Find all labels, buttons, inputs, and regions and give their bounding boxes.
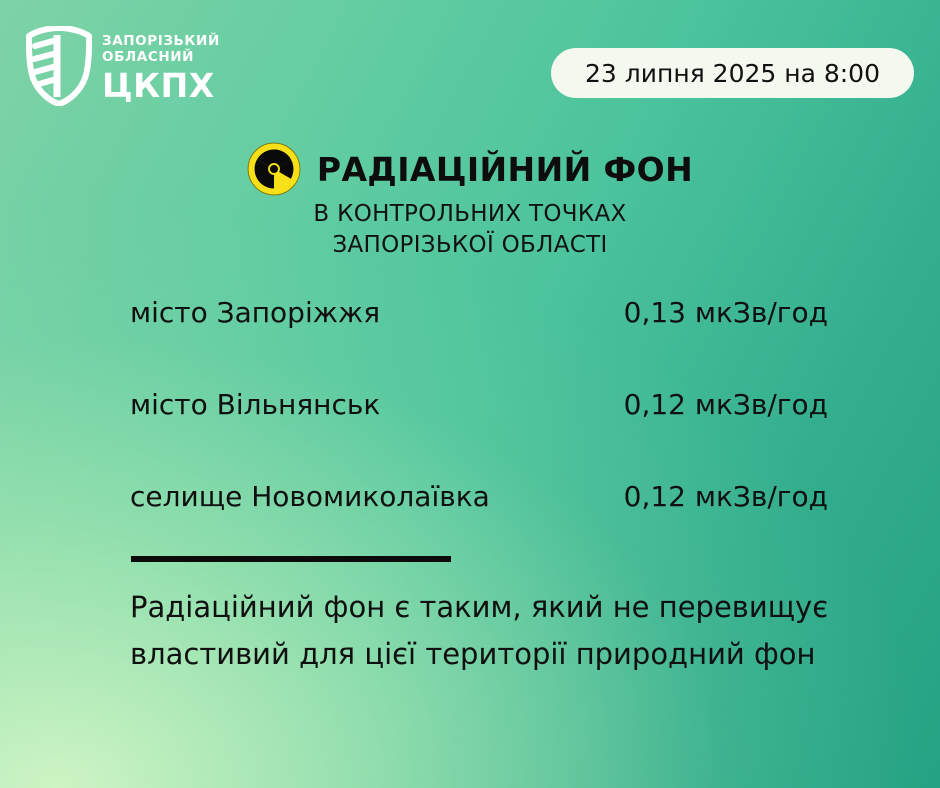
page-heading: РАДІАЦІЙНИЙ ФОН В КОНТРОЛЬНИХ ТОЧКАХ ЗАП…: [0, 142, 940, 260]
shield-logo-icon: [26, 26, 92, 106]
reading-row: місто Запоріжжя 0,13 мкЗв/год: [130, 296, 828, 388]
date-badge-label: 23 липня 2025 на 8:00: [585, 59, 880, 88]
brand-logo-text: ЗАПОРІЗЬКИЙ ОБЛАСНИЙ ЦКПХ: [102, 29, 220, 104]
footnote-line-1: Радіаційний фон є таким, який не перевищ…: [130, 584, 870, 631]
page-subtitle-line-2: ЗАПОРІЗЬКОЇ ОБЛАСТІ: [0, 231, 940, 260]
reading-location: селище Новомиколаївка: [130, 480, 490, 513]
footnote-line-2: властивий для цієї території природний ф…: [130, 631, 870, 678]
page-title: РАДІАЦІЙНИЙ ФОН: [317, 150, 693, 189]
section-divider: [131, 556, 451, 562]
brand-abbrev: ЦКПХ: [102, 69, 220, 103]
reading-location: місто Запоріжжя: [130, 296, 380, 329]
reading-value: 0,13 мкЗв/год: [624, 296, 828, 329]
reading-location: місто Вільнянськ: [130, 388, 380, 421]
radiation-background-poster: ЗАПОРІЗЬКИЙ ОБЛАСНИЙ ЦКПХ 23 липня 2025 …: [0, 0, 940, 788]
readings-list: місто Запоріжжя 0,13 мкЗв/год місто Віль…: [130, 296, 828, 572]
page-subtitle-line-1: В КОНТРОЛЬНИХ ТОЧКАХ: [0, 200, 940, 229]
brand-line-2: ОБЛАСНИЙ: [102, 49, 220, 66]
reading-value: 0,12 мкЗв/год: [624, 388, 828, 421]
radiation-trefoil-icon: [247, 142, 301, 196]
reading-value: 0,12 мкЗв/год: [624, 480, 828, 513]
date-badge: 23 липня 2025 на 8:00: [551, 48, 914, 98]
heading-main-row: РАДІАЦІЙНИЙ ФОН: [0, 142, 940, 196]
footnote: Радіаційний фон є таким, який не перевищ…: [130, 584, 870, 678]
brand-line-1: ЗАПОРІЗЬКИЙ: [102, 33, 220, 50]
reading-row: місто Вільнянськ 0,12 мкЗв/год: [130, 388, 828, 480]
brand-logo: ЗАПОРІЗЬКИЙ ОБЛАСНИЙ ЦКПХ: [26, 26, 220, 106]
